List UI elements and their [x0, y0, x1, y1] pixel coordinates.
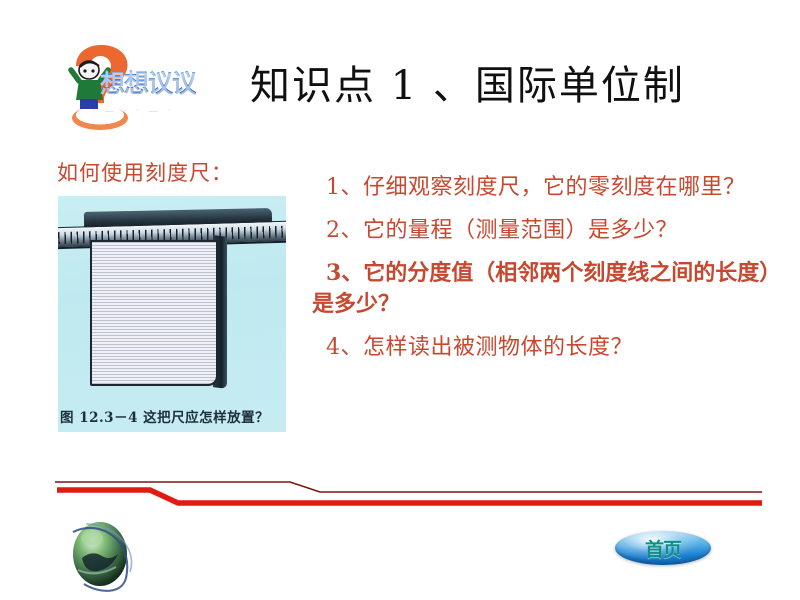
question-item-1: 1、仔细观察刻度尺，它的零刻度在哪里？ [312, 172, 782, 203]
home-button[interactable]: 首页 [615, 531, 711, 565]
question-list: 1、仔细观察刻度尺，它的零刻度在哪里？ 2、它的量程（测量范围）是多少？ 3、它… [312, 172, 782, 375]
question-item-4: 4、怎样读出被测物体的长度？ [312, 332, 782, 363]
figure-caption: 图 12.3－4 这把尺应怎样放置？ [60, 406, 286, 426]
globe-orbit-icon [60, 512, 144, 596]
left-column-heading: 如何使用刻度尺： [57, 157, 233, 187]
notebook-page [90, 240, 218, 386]
thinking-discussion-logo: 想想议议 · — · · — · [58, 40, 218, 135]
logo-label: 想想议议 [100, 64, 196, 100]
home-button-label: 首页 [645, 535, 681, 562]
page-title: 知识点 1 、国际单位制 [250, 53, 685, 111]
slide-canvas: 想想议议 · — · · — · 知识点 1 、国际单位制 如何使用刻度尺： 图… [0, 0, 800, 600]
ruler-on-notebook-figure: 图 12.3－4 这把尺应怎样放置？ [58, 196, 286, 432]
question-item-3: 3、它的分度值（相邻两个刻度线之间的长度）是多少？ [312, 258, 782, 320]
logo-sublabel: · — · · — · [92, 106, 174, 117]
question-item-2: 2、它的量程（测量范围）是多少？ [312, 215, 782, 246]
